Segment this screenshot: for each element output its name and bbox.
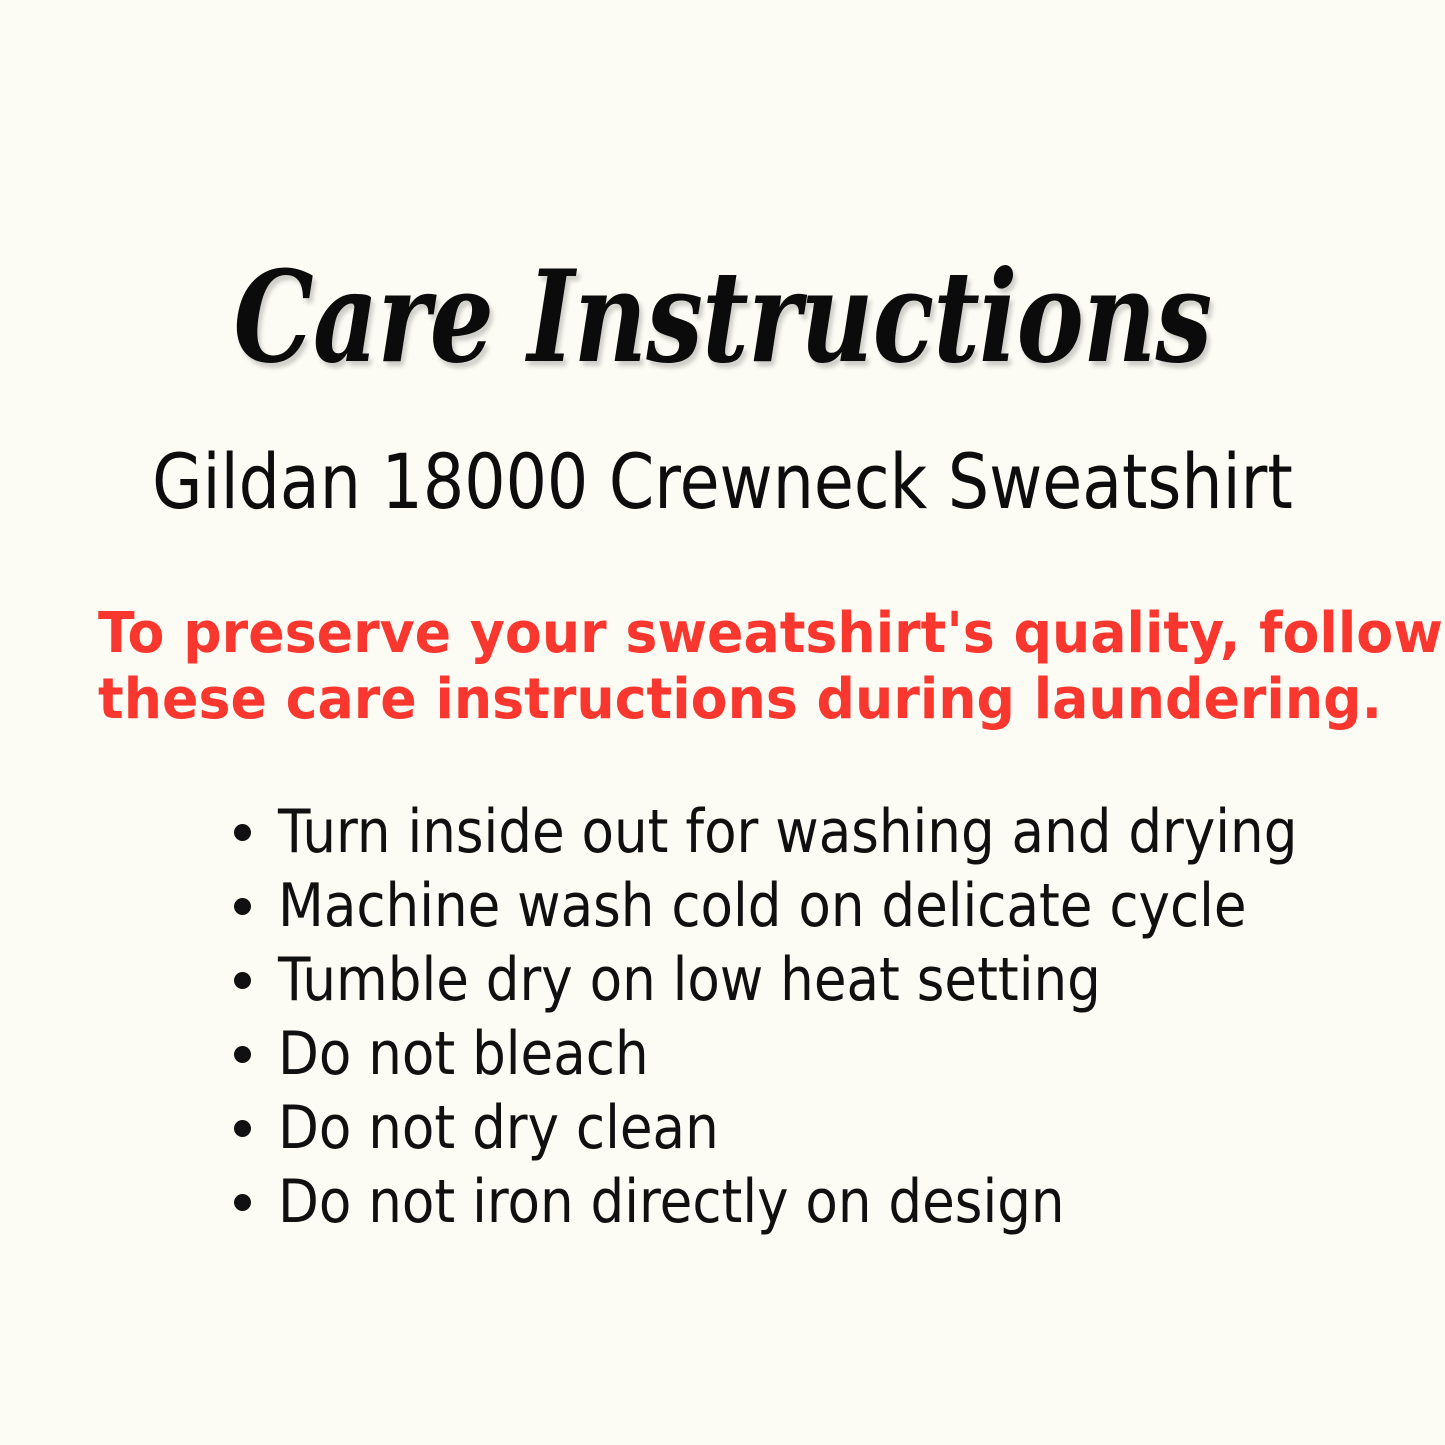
bullet-dot-icon — [234, 1120, 251, 1137]
bullet-dot-icon — [234, 972, 251, 989]
list-item: Do not iron directly on design — [232, 1165, 1332, 1239]
bullet-dot-icon — [234, 1046, 251, 1063]
highlight-note-line-1: To preserve your sweatshirt's quality, f… — [98, 601, 1347, 667]
list-item-label: Do not bleach — [278, 1017, 649, 1091]
care-instruction-list: Turn inside out for washing and drying M… — [232, 795, 1332, 1239]
bullet-dot-icon — [234, 898, 251, 915]
list-item-label: Turn inside out for washing and drying — [278, 795, 1297, 869]
care-instructions-card: Care Instructions Gildan 18000 Crewneck … — [0, 0, 1445, 1445]
page-title: Care Instructions — [145, 254, 1301, 380]
list-item: Machine wash cold on delicate cycle — [232, 869, 1332, 943]
bullet-dot-icon — [234, 1194, 251, 1211]
list-item-label: Machine wash cold on delicate cycle — [278, 869, 1247, 943]
list-item: Turn inside out for washing and drying — [232, 795, 1332, 869]
highlight-note: To preserve your sweatshirt's quality, f… — [98, 601, 1347, 733]
list-item: Do not dry clean — [232, 1091, 1332, 1165]
list-item-label: Tumble dry on low heat setting — [278, 943, 1101, 1017]
list-item-label: Do not iron directly on design — [278, 1165, 1065, 1239]
list-item: Tumble dry on low heat setting — [232, 943, 1332, 1017]
list-item: Do not bleach — [232, 1017, 1332, 1091]
bullet-dot-icon — [234, 824, 251, 841]
product-subtitle: Gildan 18000 Crewneck Sweatshirt — [105, 441, 1340, 523]
list-item-label: Do not dry clean — [278, 1091, 719, 1165]
highlight-note-line-2: these care instructions during launderin… — [98, 667, 1347, 733]
